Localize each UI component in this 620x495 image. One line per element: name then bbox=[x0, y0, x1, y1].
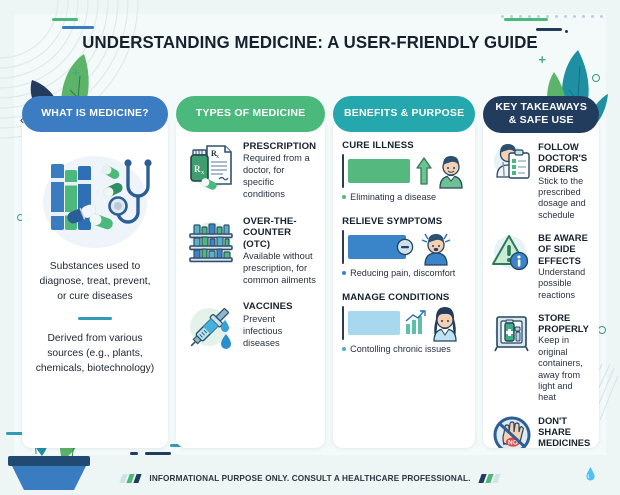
prescription-bottle-icon: R x R x bbox=[185, 140, 237, 192]
bar-axis bbox=[342, 230, 344, 264]
column-what-is-medicine: WHAT IS MEDICINE? bbox=[22, 96, 168, 448]
slash-decoration-right bbox=[480, 474, 499, 483]
footer-disclaimer: INFORMATIONAL PURPOSE ONLY. CONSULT A HE… bbox=[149, 474, 470, 483]
dash-decoration bbox=[536, 28, 562, 31]
ring-decoration bbox=[592, 74, 600, 82]
caption-dot bbox=[342, 347, 346, 351]
caption-dot bbox=[342, 271, 346, 275]
female-doctor-icon bbox=[430, 305, 460, 341]
benefit-bar-row bbox=[342, 230, 466, 264]
column-body-types-of-medicine: R x R x bbox=[176, 118, 325, 448]
column-types-of-medicine: TYPES OF MEDICINE R x bbox=[176, 96, 325, 448]
column-body-what-is-medicine: Substances used to diagnose, treat, prev… bbox=[22, 118, 168, 448]
page-title: UNDERSTANDING MEDICINE: A USER-FRIENDLY … bbox=[12, 32, 607, 53]
item-title-store-properly: STORE PROPERLY bbox=[538, 312, 590, 334]
bar-axis bbox=[342, 306, 344, 340]
list-item-text: STORE PROPERLY Keep in original containe… bbox=[538, 312, 590, 404]
list-item-text: BE AWARE OF SIDE EFFECTS Understand poss… bbox=[538, 232, 590, 301]
item-desc-otc: Available without prescription, for comm… bbox=[243, 251, 316, 287]
benefit-title-cure-illness: CURE ILLNESS bbox=[342, 140, 466, 151]
dot-grid-decoration bbox=[498, 12, 606, 21]
list-item-prescription: R x R x bbox=[185, 140, 316, 201]
slash-decoration-left bbox=[121, 474, 140, 483]
no-sharing-hand-icon: NO bbox=[492, 415, 532, 448]
column-body-key-takeaways: FOLLOW DOCTOR'S ORDERS Stick to the pres… bbox=[483, 119, 599, 448]
benefit-bar-manage-conditions bbox=[348, 311, 400, 335]
benefit-bar-cure-illness bbox=[348, 159, 410, 183]
list-item-text: PRESCRIPTION Required from a doctor, for… bbox=[243, 140, 316, 201]
list-item-store-properly: STORE PROPERLY Keep in original containe… bbox=[492, 312, 590, 404]
plus-icon: + bbox=[538, 53, 546, 66]
growth-chart-icon bbox=[404, 310, 426, 336]
dash-decoration bbox=[504, 18, 548, 21]
list-item-otc: OVER-THE-COUNTER (OTC) Available without… bbox=[185, 215, 316, 287]
syringe-icon bbox=[185, 300, 237, 352]
benefit-caption-row: Reducing pain, discomfort bbox=[342, 268, 466, 278]
svg-text:R: R bbox=[194, 164, 201, 174]
benefit-bar-row bbox=[342, 306, 466, 340]
item-desc-store-properly: Keep in original containers, away from l… bbox=[538, 335, 590, 404]
pharmacy-shelf-icon bbox=[185, 215, 237, 267]
benefit-bar-row bbox=[342, 154, 466, 188]
list-item-follow-doctors-orders: FOLLOW DOCTOR'S ORDERS Stick to the pres… bbox=[492, 141, 590, 221]
item-desc-be-aware-of-side-effects: Understand possible reactions bbox=[538, 267, 590, 301]
medicine-cabinet-icon bbox=[492, 312, 532, 352]
happy-person-icon bbox=[436, 154, 466, 188]
benefit-caption-row: Contolling chronic issues bbox=[342, 344, 466, 354]
caption-dot bbox=[342, 195, 346, 199]
benefit-title-manage-conditions: MANAGE CONDITIONS bbox=[342, 292, 466, 303]
item-title-prescription: PRESCRIPTION bbox=[243, 141, 316, 152]
dash-decoration bbox=[130, 452, 138, 455]
column-header-key-takeaways[interactable]: KEY TAKEAWAYS & SAFE USE bbox=[483, 96, 599, 133]
item-desc-vaccines: Prevent infectious diseases bbox=[243, 314, 316, 350]
column-body-benefits-purpose: CURE ILLNESS bbox=[333, 118, 475, 448]
benefit-relieve-symptoms: RELIEVE SYMPTOMS bbox=[342, 216, 466, 278]
dash-decoration bbox=[52, 18, 78, 21]
item-title-otc: OVER-THE-COUNTER (OTC) bbox=[243, 216, 316, 250]
item-title-be-aware-of-side-effects: BE AWARE OF SIDE EFFECTS bbox=[538, 232, 590, 265]
benefit-title-relieve-symptoms: RELIEVE SYMPTOMS bbox=[342, 216, 466, 227]
item-title-vaccines: VACCINES bbox=[243, 301, 316, 312]
what-is-medicine-paragraph-1: Substances used to diagnose, treat, prev… bbox=[31, 260, 159, 305]
column-header-line1: KEY TAKEAWAYS bbox=[495, 101, 587, 114]
benefit-caption-cure-illness: Eliminating a disease bbox=[350, 192, 436, 202]
footer: INFORMATIONAL PURPOSE ONLY. CONSULT A HE… bbox=[0, 474, 620, 483]
list-item-text: VACCINES Prevent infectious diseases bbox=[243, 300, 316, 349]
books-pills-stethoscope-icon bbox=[31, 142, 159, 254]
column-header-line2: & SAFE USE bbox=[509, 114, 574, 127]
dash-decoration bbox=[62, 26, 94, 29]
minus-badge-icon bbox=[396, 238, 414, 256]
list-item-dont-share-medicines: NO DON'T SHARE MEDICINES Only take what'… bbox=[492, 415, 590, 448]
item-desc-prescription: Required from a doctor, for specific con… bbox=[243, 153, 316, 201]
divider bbox=[78, 317, 112, 320]
benefit-caption-manage-conditions: Contolling chronic issues bbox=[350, 344, 451, 354]
column-header-types-of-medicine[interactable]: TYPES OF MEDICINE bbox=[176, 96, 325, 132]
doctor-clipboard-icon bbox=[492, 141, 532, 181]
item-desc-follow-doctors-orders: Stick to the prescribed dosage and sched… bbox=[538, 176, 590, 222]
benefit-caption-row: Eliminating a disease bbox=[342, 192, 466, 202]
list-item-text: FOLLOW DOCTOR'S ORDERS Stick to the pres… bbox=[538, 141, 590, 221]
columns-container: WHAT IS MEDICINE? bbox=[22, 96, 598, 448]
what-is-medicine-paragraph-2: Derived from various sources (e.g., plan… bbox=[31, 332, 159, 377]
benefit-manage-conditions: MANAGE CONDITIONS bbox=[342, 292, 466, 354]
headache-person-icon bbox=[420, 229, 452, 265]
list-item-vaccines: VACCINES Prevent infectious diseases bbox=[185, 300, 316, 352]
list-item-text: OVER-THE-COUNTER (OTC) Available without… bbox=[243, 215, 316, 287]
column-benefits-purpose: BENEFITS & PURPOSE CURE ILLNESS bbox=[333, 96, 475, 448]
column-key-takeaways: KEY TAKEAWAYS & SAFE USE bbox=[483, 96, 599, 448]
dash-decoration bbox=[145, 452, 171, 455]
benefit-cure-illness: CURE ILLNESS bbox=[342, 140, 466, 202]
svg-text:x: x bbox=[216, 154, 219, 160]
up-arrow-icon bbox=[416, 156, 432, 186]
list-item-text: DON'T SHARE MEDICINES Only take what's p… bbox=[538, 415, 590, 448]
list-item-be-aware-of-side-effects: BE AWARE OF SIDE EFFECTS Understand poss… bbox=[492, 232, 590, 301]
benefit-caption-relieve-symptoms: Reducing pain, discomfort bbox=[350, 268, 455, 278]
item-title-dont-share-medicines: DON'T SHARE MEDICINES bbox=[538, 415, 590, 448]
item-title-follow-doctors-orders: FOLLOW DOCTOR'S ORDERS bbox=[538, 141, 590, 174]
plus-icon: + bbox=[72, 66, 80, 79]
bar-axis bbox=[342, 154, 344, 188]
warning-triangle-info-icon bbox=[492, 232, 532, 272]
column-header-benefits-purpose[interactable]: BENEFITS & PURPOSE bbox=[333, 96, 475, 132]
column-header-what-is-medicine[interactable]: WHAT IS MEDICINE? bbox=[22, 96, 168, 132]
